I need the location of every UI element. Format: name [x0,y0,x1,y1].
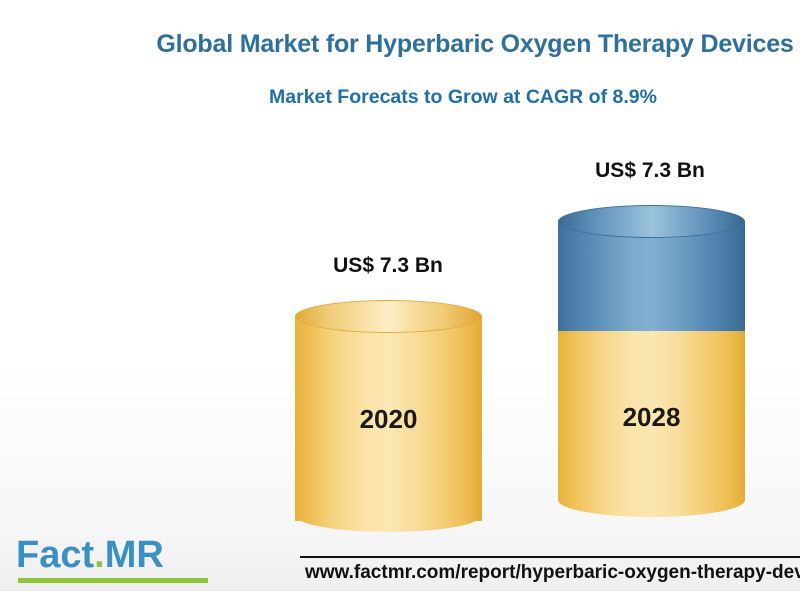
report-url[interactable]: www.factmr.com/report/hyperbaric-oxygen-… [305,562,800,584]
logo-fact-text: Fact [16,534,94,576]
bar-value-label-2028: US$ 7.3 Bn [550,159,750,183]
page-subtitle: Market Forecats to Grow at CAGR of 8.9% [0,86,800,109]
bar-2028-top-ellipse [558,205,745,238]
logo-underline [18,578,208,583]
chart-canvas: Global Market for Hyperbaric Oxygen Ther… [0,0,800,591]
bar-year-2020: 2020 [295,404,482,435]
bar-2020-bottom-ellipse [295,498,482,532]
bar-year-2028: 2028 [558,402,745,433]
bar-value-label-2020: US$ 7.3 Bn [288,254,488,278]
page-title: Global Market for Hyperbaric Oxygen Ther… [0,30,800,59]
logo-dot: . [94,534,105,576]
logo-mr-text: MR [105,534,164,576]
bar-2028 [558,205,745,537]
bar-2028-bottom-ellipse [558,483,745,517]
url-rule [300,556,800,558]
factmr-logo: Fact.MR [16,536,164,574]
bar-2020-top-ellipse [295,300,482,333]
